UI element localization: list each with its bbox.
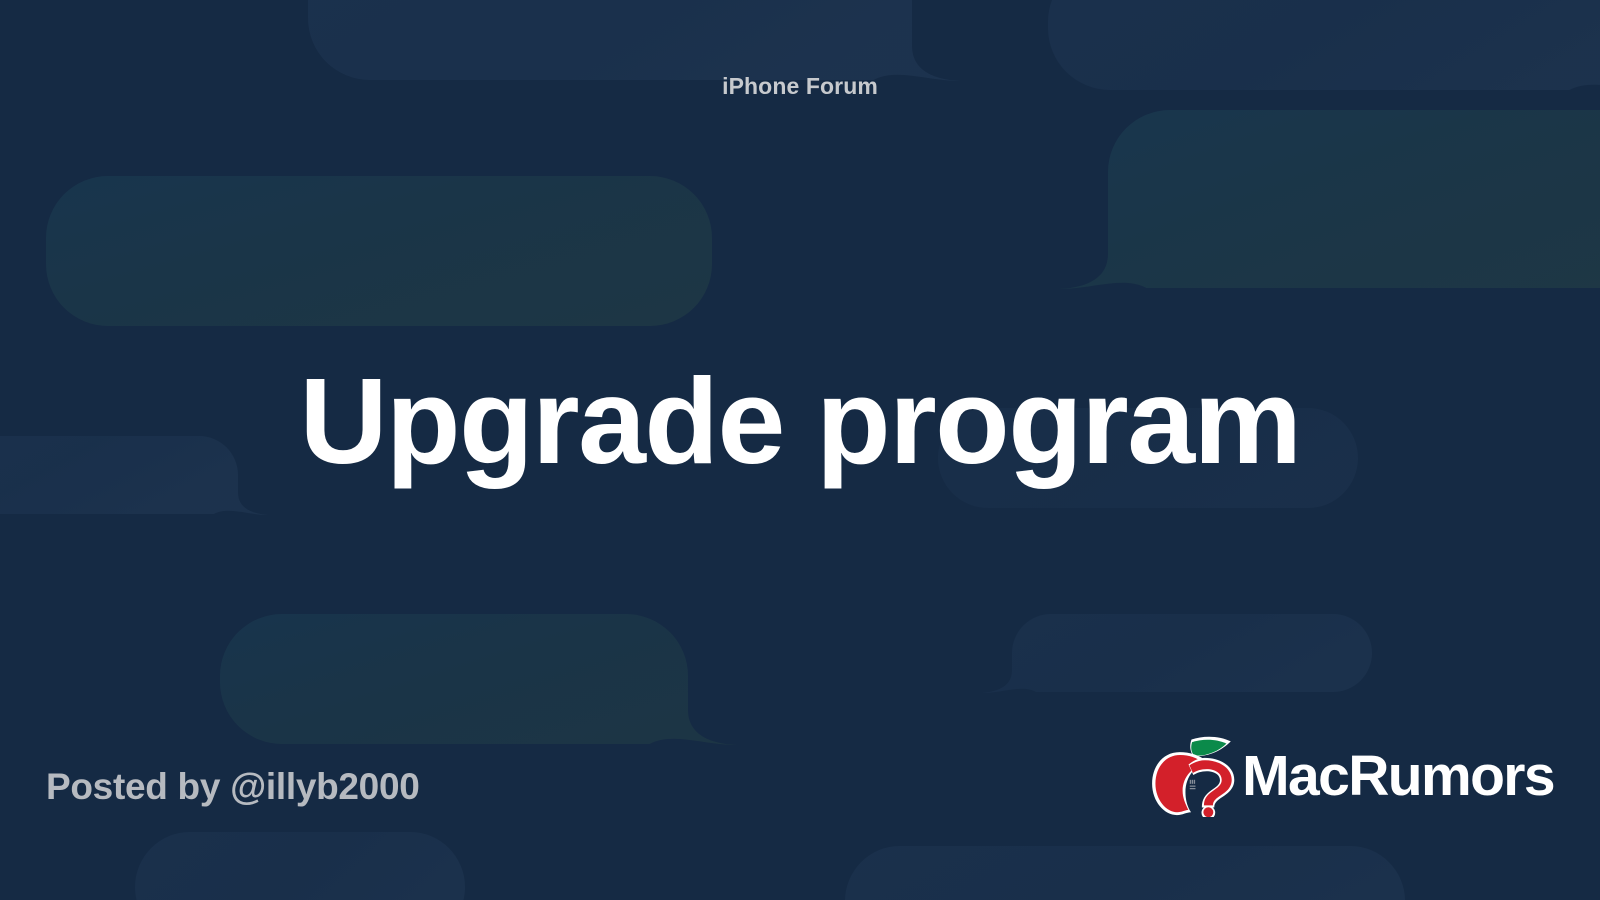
macrumors-wordmark: MacRumors: [1242, 748, 1554, 805]
macrumors-share-card: iPhone Forum Upgrade program Posted by @…: [0, 0, 1600, 900]
page-title: Upgrade program: [0, 356, 1600, 488]
macrumors-apple-question-mark-icon: [1146, 735, 1244, 817]
posted-by-label: Posted by @illyb2000: [46, 766, 420, 808]
forum-label: iPhone Forum: [0, 73, 1600, 100]
macrumors-logo: MacRumors: [1146, 735, 1554, 817]
